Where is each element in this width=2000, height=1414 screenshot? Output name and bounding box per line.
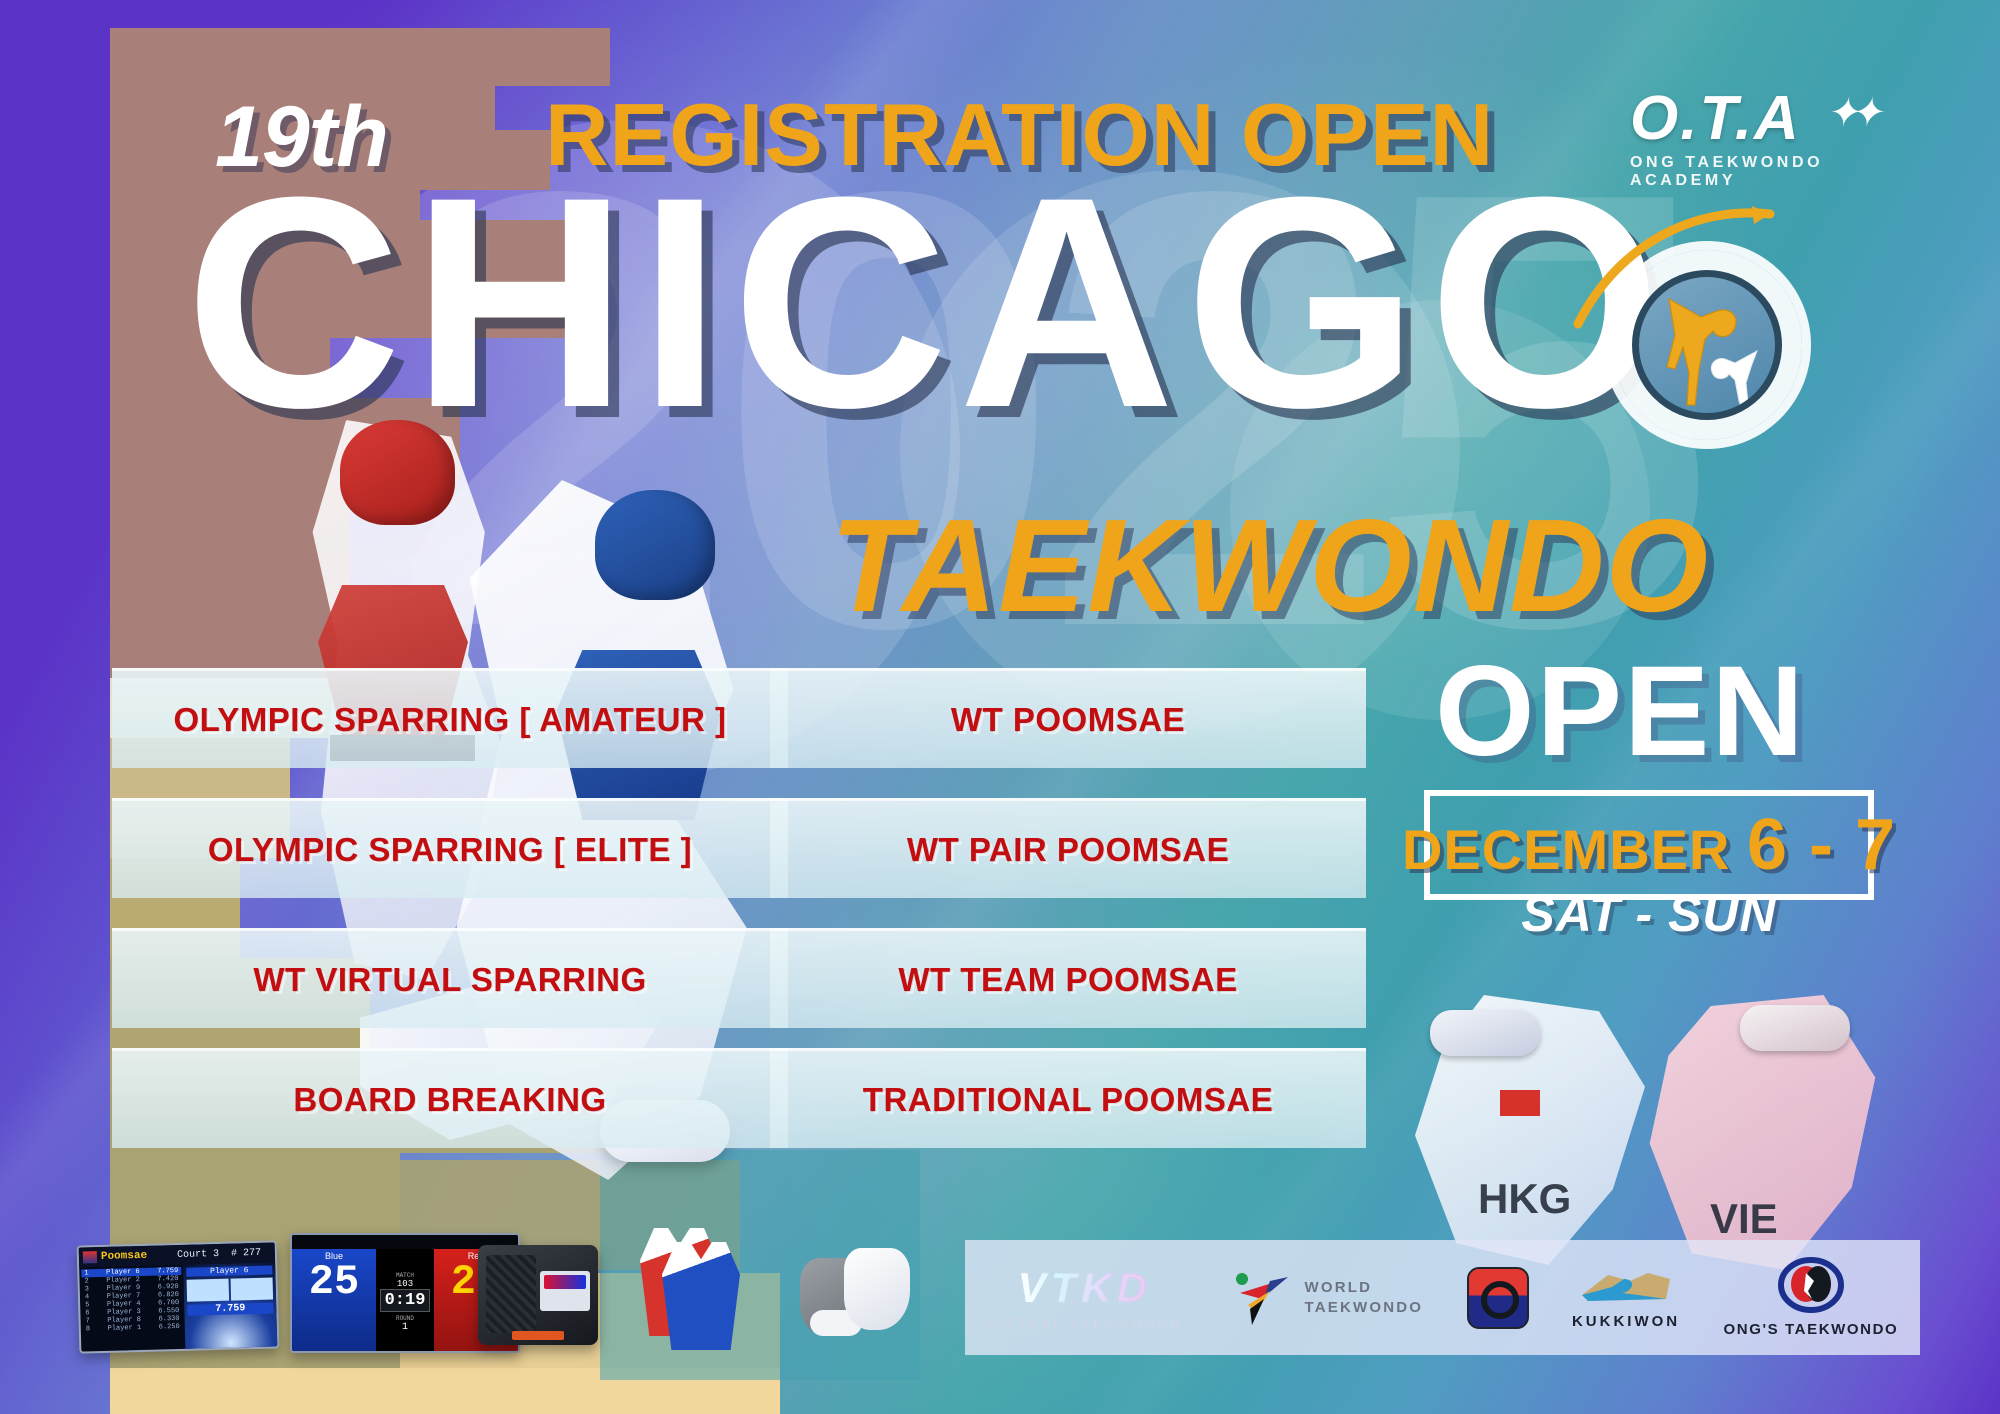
poster-canvas: 2025 HKG VIE 19th REGISTRATION OPEN CHIC… [0, 0, 2000, 1414]
vr-headset-right [1740, 1005, 1850, 1051]
sponsor-daedo [1467, 1267, 1529, 1329]
event-month: DECEMBER [1402, 818, 1730, 881]
vr-country-label-left: HKG [1478, 1175, 1571, 1223]
open-title: OPEN [1435, 638, 1806, 785]
mosaic-block [110, 478, 350, 678]
mosaic-block [110, 28, 610, 86]
sponsor-world-taekwondo: WORLD TAEKWONDO [1226, 1265, 1423, 1331]
sponsor-kukkiwon: KUKKIWON [1572, 1265, 1680, 1330]
table-row: 8 Player 1 6.250 [83, 1323, 183, 1334]
score-cell: 6.250 [159, 1323, 180, 1332]
electronic-hogu-thumbnail [640, 1228, 740, 1343]
sponsor-subtitle: VIRTUAL TAEKWONDO [987, 1316, 1183, 1331]
event-label: WT PAIR POOMSAE [907, 831, 1229, 869]
rank-cell: 5 [85, 1301, 89, 1309]
event-label: WT TEAM POOMSAE [898, 961, 1237, 999]
event-label: TRADITIONAL POOMSAE [863, 1081, 1273, 1119]
event-label: BOARD BREAKING [293, 1081, 606, 1119]
sponsor-name: VTKD [1018, 1264, 1152, 1312]
event-label: WT VIRTUAL SPARRING [253, 961, 646, 999]
poomsae-current-player: Player 6 [186, 1266, 272, 1277]
poomsae-board-court: Court 3 [177, 1248, 219, 1260]
rank-cell: 3 [85, 1285, 89, 1293]
event-label: WT POOMSAE [951, 701, 1185, 739]
sponsor-name: ONG'S TAEKWONDO [1724, 1321, 1899, 1338]
kukkiwon-icon [1578, 1265, 1674, 1309]
vr-country-patch-left [1500, 1090, 1540, 1116]
player-cell: Player 1 [107, 1324, 141, 1333]
rank-cell: 6 [85, 1309, 89, 1317]
rank-cell: 8 [86, 1325, 90, 1333]
match-label: MATCH [396, 1272, 414, 1279]
sponsor-name: KUKKIWON [1572, 1313, 1680, 1330]
rank-cell: 2 [84, 1277, 88, 1285]
event-box-wt-pair-poomsae[interactable]: WT PAIR POOMSAE [770, 798, 1366, 898]
sport-title: TAEKWONDO [830, 490, 1709, 641]
event-box-wt-poomsae[interactable]: WT POOMSAE [770, 668, 1366, 768]
event-label: OLYMPIC SPARRING [ ELITE ] [208, 831, 692, 869]
ota-logo: O.T.A ONG TAEKWONDO ACADEMY ✦✦ [1630, 88, 1870, 190]
ota-full-name: ONG TAEKWONDO ACADEMY [1630, 154, 1870, 190]
event-box-wt-team-poomsae[interactable]: WT TEAM POOMSAE [770, 928, 1366, 1028]
sponsor-subtitle: TAEKWONDO [1304, 1299, 1423, 1316]
round-number: 1 [402, 1322, 408, 1333]
event-box-wt-virtual-sparring[interactable]: WT VIRTUAL SPARRING [112, 928, 788, 1028]
world-taekwondo-icon [1226, 1265, 1292, 1331]
daedo-icon [1467, 1267, 1529, 1329]
emblem-arc-icon [1570, 200, 1790, 340]
poomsae-rank-list: 1 Player 6 7.759 2 Player 2 7.420 3 Play… [79, 1265, 185, 1354]
star-burst-icon: ✦✦ [1824, 90, 1881, 136]
poomsae-total-score: 7.759 [187, 1303, 273, 1316]
blue-score: 25 [292, 1261, 376, 1303]
sponsor-vtkd: VTKD VIRTUAL TAEKWONDO [987, 1264, 1183, 1331]
event-box-board-breaking[interactable]: BOARD BREAKING [112, 1048, 788, 1148]
rank-cell: 4 [85, 1293, 89, 1301]
match-number: 103 [397, 1279, 413, 1289]
sponsor-bar: VTKD VIRTUAL TAEKWONDO WORLD TAEKWONDO [965, 1240, 1920, 1355]
poomsae-board-bout: # 277 [231, 1247, 261, 1259]
event-date-box: DECEMBER 6 - 7 [1424, 790, 1874, 900]
page-title: CHICAGO [185, 152, 1672, 452]
poomsae-flag-icon [83, 1251, 97, 1263]
sponsor-name: WORLD [1304, 1279, 1372, 1296]
vr-headset-left [1430, 1010, 1540, 1056]
round-label: ROUND [396, 1315, 414, 1322]
event-box-traditional-poomsae[interactable]: TRADITIONAL POOMSAE [770, 1048, 1366, 1148]
rank-cell: 7 [86, 1317, 90, 1325]
event-date: DECEMBER 6 - 7 [1402, 804, 1896, 886]
event-box-olympic-sparring-amateur[interactable]: OLYMPIC SPARRING [ AMATEUR ] [112, 668, 788, 768]
athlete-blue-headgear [595, 490, 715, 600]
event-day-range: 6 - 7 [1747, 805, 1896, 885]
poomsae-board-title: Poomsae [101, 1250, 148, 1263]
ongs-taekwondo-icon [1778, 1257, 1844, 1317]
poomsae-scoreboard-thumbnail: Poomsae Court 3 # 277 1 Player 6 7.759 2… [77, 1240, 280, 1353]
event-box-olympic-sparring-elite[interactable]: OLYMPIC SPARRING [ ELITE ] [112, 798, 788, 898]
rank-cell: 1 [84, 1269, 88, 1277]
equipment-case-thumbnail [478, 1245, 598, 1345]
event-weekdays: SAT - SUN [1424, 885, 1874, 943]
sponsor-ongs-taekwondo: ONG'S TAEKWONDO [1724, 1257, 1899, 1338]
event-label: OLYMPIC SPARRING [ AMATEUR ] [173, 701, 726, 739]
electronic-foot-sock-thumbnail [800, 1240, 915, 1345]
vr-country-label-right: VIE [1710, 1195, 1778, 1243]
match-clock: 0:19 [380, 1289, 431, 1312]
